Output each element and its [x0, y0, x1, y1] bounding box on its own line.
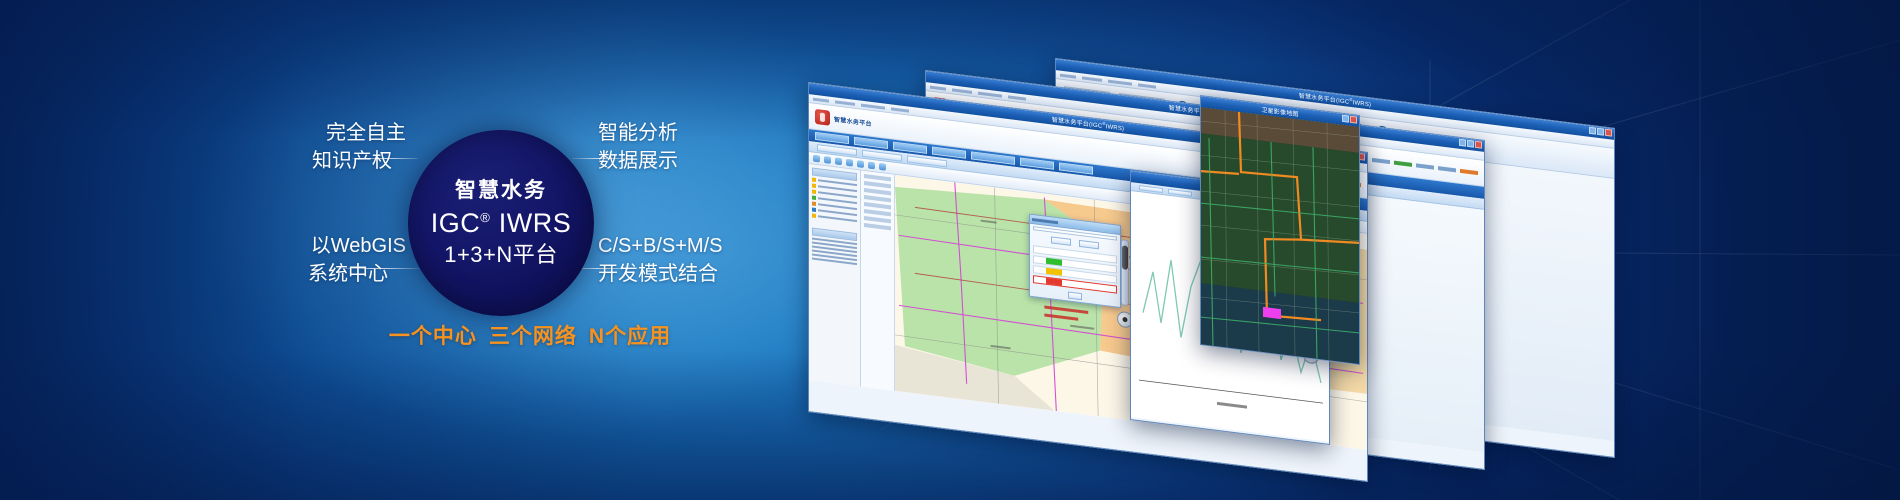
map-zoom-slider[interactable]	[1121, 239, 1129, 306]
tool-button[interactable]	[864, 181, 891, 188]
feature-label-bottom-right: C/S+B/S+M/S 开发模式结合	[598, 233, 723, 288]
feature-line-1: C/S+B/S+M/S	[598, 235, 723, 257]
feature-line-2: 知识产权	[226, 148, 406, 176]
link-exit[interactable]	[1460, 168, 1478, 174]
top-links[interactable]	[1372, 157, 1478, 174]
status-swatch-normal	[1046, 258, 1062, 266]
zoom-out-icon[interactable]	[835, 157, 842, 165]
pan-icon[interactable]	[813, 155, 820, 163]
minimize-icon[interactable]	[1589, 127, 1596, 135]
badge-product: IGC®IWRS	[431, 209, 572, 239]
tagline-part-1: 一个中心	[389, 325, 477, 348]
link-logout[interactable]	[1438, 166, 1456, 172]
tool-button[interactable]	[864, 209, 891, 216]
tool-button[interactable]	[864, 223, 891, 230]
tool-panel[interactable]	[861, 171, 895, 391]
water-drop-logo-icon	[815, 109, 830, 126]
window-title-tail: IWRS)	[1353, 100, 1372, 108]
window-controls[interactable]	[1459, 139, 1482, 149]
window-map[interactable]: 卫星影像地图	[1200, 95, 1360, 365]
badge-product-tail: IWRS	[499, 208, 572, 238]
feature-label-bottom-left: 以WebGIS 系统中心	[216, 233, 406, 288]
satellite-map-view[interactable]	[1201, 107, 1359, 365]
window-controls[interactable]	[1589, 127, 1612, 137]
close-icon[interactable]	[1475, 141, 1482, 149]
print-icon[interactable]	[879, 163, 886, 171]
screenshot-stack: 智慧水务平台(IGC®IWRS)	[760, 0, 1900, 500]
select-icon[interactable]	[846, 159, 853, 167]
feature-line-2: 数据展示	[598, 148, 678, 176]
query-button[interactable]	[1051, 236, 1071, 246]
reset-button[interactable]	[1079, 240, 1099, 250]
tool-button[interactable]	[864, 195, 891, 202]
tagline: 一个中心三个网络N个应用	[360, 320, 700, 350]
brand-name: 智慧水务平台	[834, 114, 872, 128]
status-swatch-alarm	[1046, 278, 1062, 286]
chart-tab[interactable]	[1139, 185, 1163, 193]
minimize-icon[interactable]	[1342, 115, 1349, 123]
registered-trademark-icon: ®	[480, 210, 490, 225]
maximize-icon[interactable]	[1597, 128, 1604, 136]
water-quality-dialog[interactable]	[1029, 214, 1121, 309]
badge-title: 智慧水务	[455, 179, 547, 202]
window-controls[interactable]	[1342, 115, 1357, 124]
link-home[interactable]	[1372, 157, 1390, 163]
close-button[interactable]	[1068, 292, 1082, 301]
link-help[interactable]	[1416, 163, 1434, 169]
slider-thumb[interactable]	[1122, 245, 1128, 270]
window-title-tail: IWRS)	[1106, 124, 1125, 132]
feature-line-1: 完全自主	[326, 122, 406, 144]
chart-tab[interactable]	[1168, 188, 1192, 196]
feature-line-1: 智能分析	[598, 122, 678, 144]
feature-line-1: 以WebGIS	[311, 235, 406, 257]
link-favorites[interactable]	[1394, 160, 1412, 166]
maximize-icon[interactable]	[1467, 140, 1474, 148]
badge-product-main: IGC	[431, 208, 481, 238]
identify-icon[interactable]	[868, 162, 875, 170]
layer-panel[interactable]	[809, 164, 861, 387]
close-icon[interactable]	[1605, 129, 1612, 137]
feature-line-2: 系统中心	[216, 261, 406, 289]
infographic: 完全自主 知识产权 以WebGIS 系统中心 智能分析 数据展示 C/S+B/S…	[0, 0, 810, 500]
brand-badge: 智慧水务 IGC®IWRS 1+3+N平台	[408, 130, 594, 316]
badge-platform: 1+3+N平台	[444, 243, 558, 267]
tagline-part-2: 三个网络	[489, 325, 577, 348]
tool-button[interactable]	[864, 216, 891, 223]
tool-button[interactable]	[864, 174, 891, 181]
status-swatch-warning	[1046, 268, 1062, 276]
measure-icon[interactable]	[857, 160, 864, 168]
satellite-map-canvas[interactable]	[1201, 107, 1359, 365]
banner-stage: 完全自主 知识产权 以WebGIS 系统中心 智能分析 数据展示 C/S+B/S…	[0, 0, 1900, 500]
close-icon[interactable]	[1350, 116, 1357, 124]
tagline-part-3: N个应用	[589, 325, 671, 348]
tool-button[interactable]	[864, 188, 891, 195]
feature-line-2: 开发模式结合	[598, 261, 723, 289]
feature-label-top-right: 智能分析 数据展示	[598, 120, 678, 175]
minimize-icon[interactable]	[1459, 139, 1466, 147]
feature-label-top-left: 完全自主 知识产权	[226, 120, 406, 175]
tool-button[interactable]	[864, 202, 891, 209]
zoom-in-icon[interactable]	[824, 156, 831, 164]
